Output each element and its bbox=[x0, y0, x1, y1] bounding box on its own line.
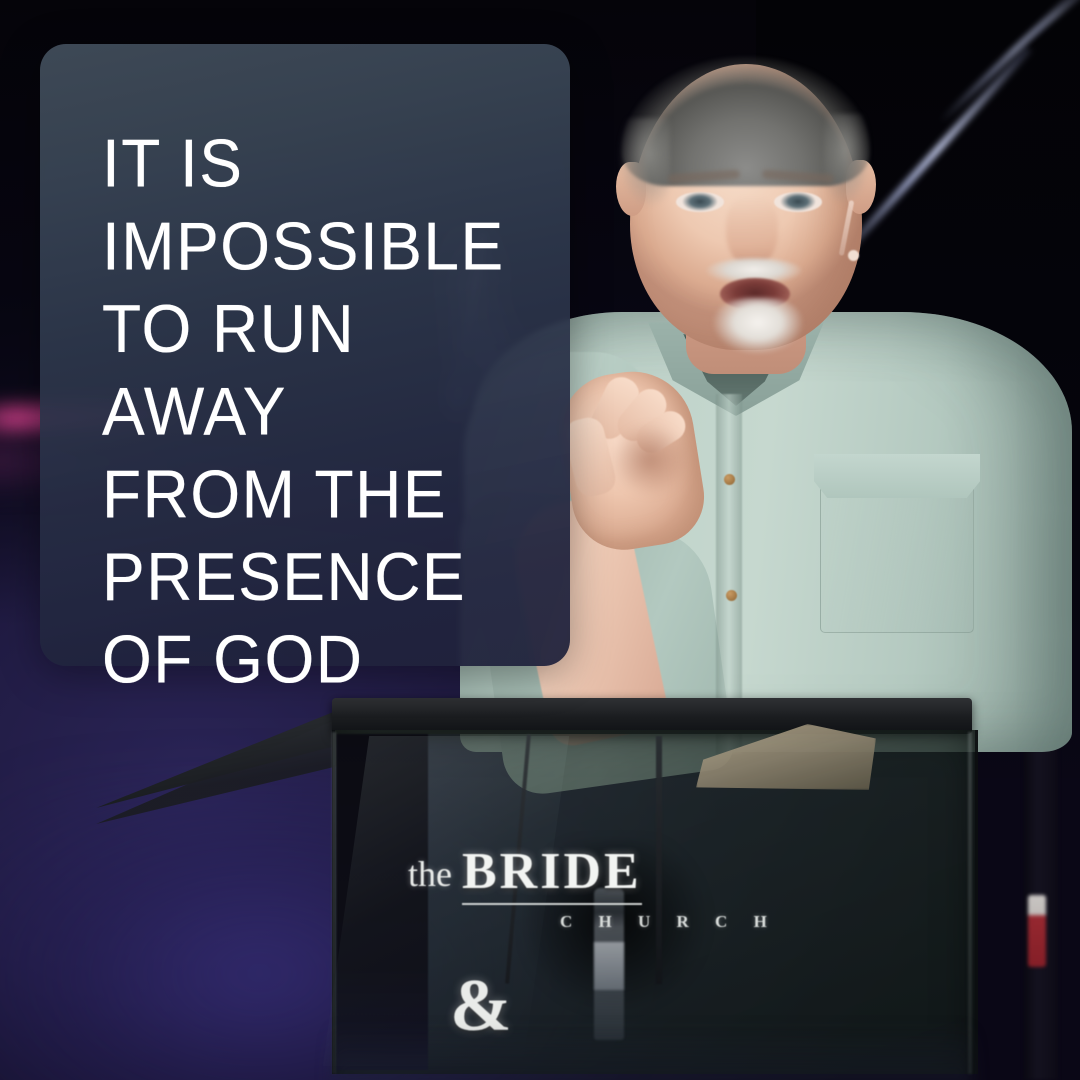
speaker-eye-left bbox=[676, 192, 724, 212]
shirt-button bbox=[724, 474, 735, 485]
quote-card: IT IS IMPOSSIBLE TO RUN AWAY FROM THE PR… bbox=[40, 44, 570, 666]
podium-top-rail bbox=[332, 698, 972, 734]
speaker-pocket-flap bbox=[814, 454, 980, 498]
speaker-eye-right bbox=[774, 192, 822, 212]
speaker-hand-shadow bbox=[612, 424, 688, 496]
podium-base-glow bbox=[332, 1026, 972, 1080]
podium-right-edge bbox=[968, 732, 972, 1074]
water-bottle-label bbox=[594, 942, 624, 990]
logo-word-church: C H U R C H bbox=[560, 912, 778, 932]
acrylic-podium: theBRIDE C H U R C H & bbox=[96, 692, 984, 1080]
speaker-hair-side-right bbox=[824, 114, 876, 206]
church-logo: theBRIDE C H U R C H bbox=[408, 842, 788, 934]
logo-word-the: the bbox=[408, 853, 452, 895]
speaker-hair-side-left bbox=[618, 118, 670, 208]
sermon-quote-slide: theBRIDE C H U R C H & IT IS IMPOSSIBLE … bbox=[0, 0, 1080, 1080]
shirt-button bbox=[726, 590, 737, 601]
podium-left-edge bbox=[332, 732, 336, 1074]
headset-microphone-tip bbox=[848, 250, 859, 261]
speaker-goatee bbox=[712, 298, 804, 356]
logo-word-bride: BRIDE bbox=[462, 842, 642, 905]
quote-text: IT IS IMPOSSIBLE TO RUN AWAY FROM THE PR… bbox=[102, 122, 602, 701]
fire-extinguisher bbox=[1028, 895, 1046, 967]
